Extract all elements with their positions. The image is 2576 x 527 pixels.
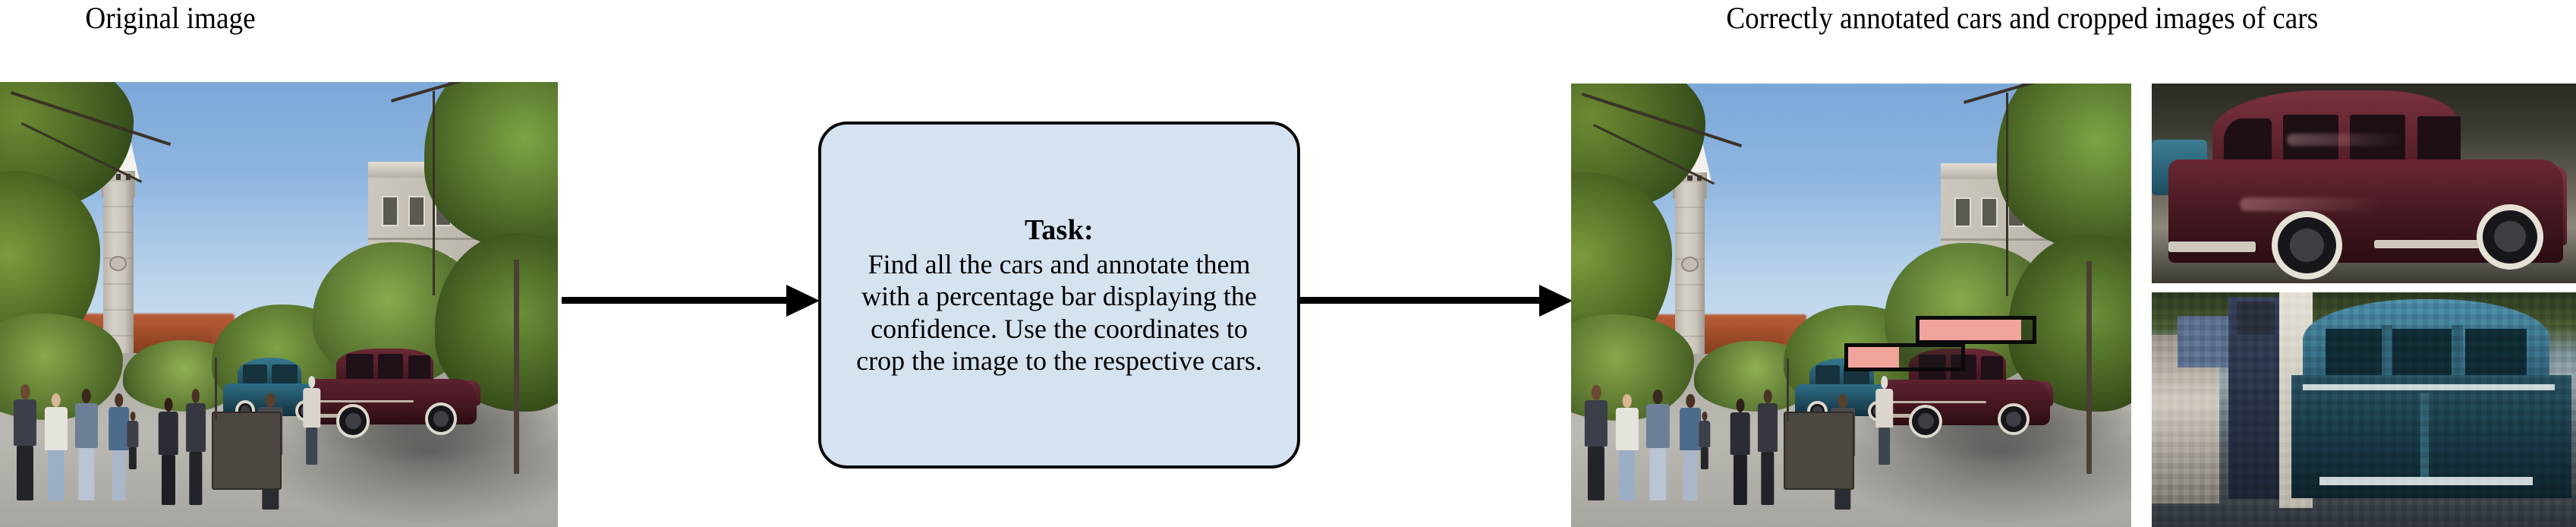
pedestrian-head bbox=[1838, 394, 1848, 408]
campus-scene bbox=[0, 82, 558, 527]
pedestrian-torso bbox=[44, 407, 67, 450]
tower-clock-face bbox=[109, 256, 127, 271]
car-maroon-sedan bbox=[310, 352, 477, 425]
pedestrian-legs bbox=[1619, 450, 1635, 500]
arrow-shaft bbox=[1299, 297, 1541, 304]
pedestrian-head bbox=[130, 412, 135, 421]
pedestrian bbox=[156, 398, 181, 505]
pedestrian-legs bbox=[1650, 448, 1666, 500]
pedestrian-head bbox=[51, 393, 60, 407]
sedan-chrome-trim bbox=[320, 400, 413, 402]
pedestrian-torso bbox=[1730, 412, 1751, 455]
pedestrian-legs bbox=[1761, 452, 1774, 505]
confidence-bar-maroon-sedan bbox=[1916, 316, 2036, 344]
pedestrian-legs bbox=[129, 447, 137, 469]
crop-maroon-sedan bbox=[2152, 84, 2576, 283]
sedan-wheel bbox=[336, 404, 370, 437]
sedan-window bbox=[346, 354, 373, 382]
pedestrian-legs bbox=[1588, 447, 1604, 500]
pedestrian-head bbox=[82, 389, 91, 403]
pedestrian-torso bbox=[1646, 404, 1669, 448]
pedestrian-torso bbox=[127, 421, 138, 447]
hand-cart bbox=[212, 412, 282, 491]
pedestrian-head bbox=[115, 393, 123, 407]
pedestrian bbox=[1613, 394, 1641, 500]
original-image bbox=[0, 82, 558, 527]
wheel-hub bbox=[1918, 413, 1934, 429]
arrow-task-to-result bbox=[1299, 277, 1573, 323]
pedestrian-torso bbox=[75, 403, 98, 448]
pedestrian-head bbox=[1736, 399, 1744, 412]
pedestrian-legs bbox=[162, 455, 175, 505]
maroon-sedan bbox=[2168, 97, 2563, 269]
sedan-window bbox=[1981, 356, 2003, 383]
pedestrian bbox=[1874, 376, 1895, 465]
beetle-window bbox=[272, 364, 298, 384]
pedestrian-distant bbox=[125, 412, 140, 469]
wheel-hub bbox=[2494, 221, 2526, 252]
pedestrian bbox=[1728, 399, 1752, 505]
building-window bbox=[1956, 199, 1970, 226]
wheel-hub bbox=[2006, 412, 2021, 427]
pedestrian bbox=[73, 389, 101, 500]
tree-trunk bbox=[514, 260, 519, 473]
annotated-image bbox=[1571, 84, 2131, 527]
pedestrian-head bbox=[1686, 394, 1695, 408]
sedan-wheel bbox=[1909, 405, 1942, 438]
pedestrian bbox=[184, 389, 208, 504]
pedestrian bbox=[1756, 390, 1780, 505]
pedestrian-head bbox=[266, 393, 275, 407]
pedestrian-legs bbox=[189, 452, 202, 505]
building-window bbox=[1982, 199, 1996, 226]
wheel-hub bbox=[345, 413, 361, 429]
pedestrian-head bbox=[192, 389, 200, 402]
building-window bbox=[383, 197, 396, 224]
pedestrian-head bbox=[20, 384, 30, 399]
arrow-head-icon bbox=[786, 285, 820, 317]
pedestrian-torso bbox=[1758, 403, 1778, 452]
pedestrian-legs bbox=[1878, 428, 1891, 465]
pedestrian-torso bbox=[14, 399, 36, 446]
caption-original-image: Original image bbox=[85, 0, 255, 36]
pedestrian-legs bbox=[48, 450, 64, 500]
confidence-bar-fill bbox=[1848, 347, 1899, 368]
sedan-wheel bbox=[425, 402, 457, 435]
pedestrian-head bbox=[1881, 376, 1888, 388]
pedestrian-legs bbox=[1734, 455, 1747, 505]
pedestrian-torso bbox=[303, 388, 320, 428]
sedan-window bbox=[378, 354, 403, 382]
pedestrian-torso bbox=[1699, 421, 1710, 447]
pedestrian bbox=[1582, 385, 1611, 500]
beetle-window bbox=[1815, 365, 1840, 385]
pedestrian bbox=[11, 384, 39, 500]
task-box: Task: Find all the cars and annotate the… bbox=[818, 121, 1300, 469]
sedan-rear-wheel bbox=[2272, 211, 2343, 279]
wheel-hub bbox=[2290, 229, 2324, 261]
tree-trunk bbox=[433, 91, 435, 296]
cart-handle bbox=[1787, 358, 1789, 421]
pedestrian-torso bbox=[1585, 400, 1608, 447]
building-window bbox=[410, 197, 423, 224]
caption-annotated-and-crops: Correctly annotated cars and cropped ima… bbox=[1726, 0, 2318, 36]
pedestrian-legs bbox=[112, 450, 126, 500]
pedestrian-legs bbox=[78, 448, 94, 500]
arrow-shaft bbox=[562, 297, 788, 304]
arrow-head-icon bbox=[1539, 285, 1573, 317]
pedestrian-torso bbox=[186, 403, 206, 452]
crop-blue-beetle bbox=[2152, 292, 2576, 527]
roof-highlight bbox=[2287, 134, 2405, 146]
campus-scene-annotated bbox=[1571, 84, 2131, 527]
confidence-bar-fill bbox=[1919, 320, 2021, 340]
cart-handle bbox=[215, 358, 217, 420]
pedestrian-head bbox=[1764, 390, 1772, 403]
pedestrian-legs bbox=[1700, 447, 1708, 469]
tree-trunk bbox=[2006, 93, 2008, 297]
pedestrian-head bbox=[1623, 394, 1633, 408]
pedestrian-head bbox=[164, 398, 172, 412]
pedestrian-head bbox=[1702, 412, 1707, 421]
pedestrian-distant bbox=[1697, 412, 1712, 469]
beetle-window bbox=[243, 364, 267, 384]
sedan-window bbox=[408, 355, 430, 382]
pedestrian-head bbox=[1592, 385, 1601, 400]
pedestrian-torso bbox=[1875, 389, 1894, 428]
body-highlight bbox=[2240, 197, 2382, 211]
pedestrian-head bbox=[1653, 390, 1663, 404]
confidence-bar-blue-beetle bbox=[1844, 343, 1965, 371]
pedestrian-torso bbox=[159, 412, 179, 454]
pedestrian bbox=[42, 393, 70, 500]
pedestrian-torso bbox=[1616, 408, 1639, 450]
pixelation-overlay bbox=[2152, 292, 2576, 527]
sedan-front-wheel bbox=[2477, 204, 2543, 270]
hand-cart bbox=[1784, 412, 1854, 490]
pedestrian-legs bbox=[306, 428, 318, 465]
tree-trunk bbox=[2086, 261, 2092, 474]
wheel-hub bbox=[433, 411, 449, 426]
sedan-rear-bumper bbox=[2168, 241, 2255, 252]
arrow-original-to-task bbox=[562, 277, 820, 323]
pedestrian bbox=[1644, 390, 1672, 500]
task-title: Task: bbox=[1025, 213, 1094, 247]
tower-clock-face bbox=[1681, 257, 1699, 272]
pedestrian bbox=[301, 376, 323, 465]
sedan-chrome-trim bbox=[1892, 401, 1986, 403]
pedestrian-head bbox=[308, 376, 315, 388]
pedestrian-legs bbox=[17, 446, 33, 500]
pedestrian-legs bbox=[1683, 450, 1698, 500]
task-description: Find all the cars and annotate them with… bbox=[855, 248, 1264, 377]
